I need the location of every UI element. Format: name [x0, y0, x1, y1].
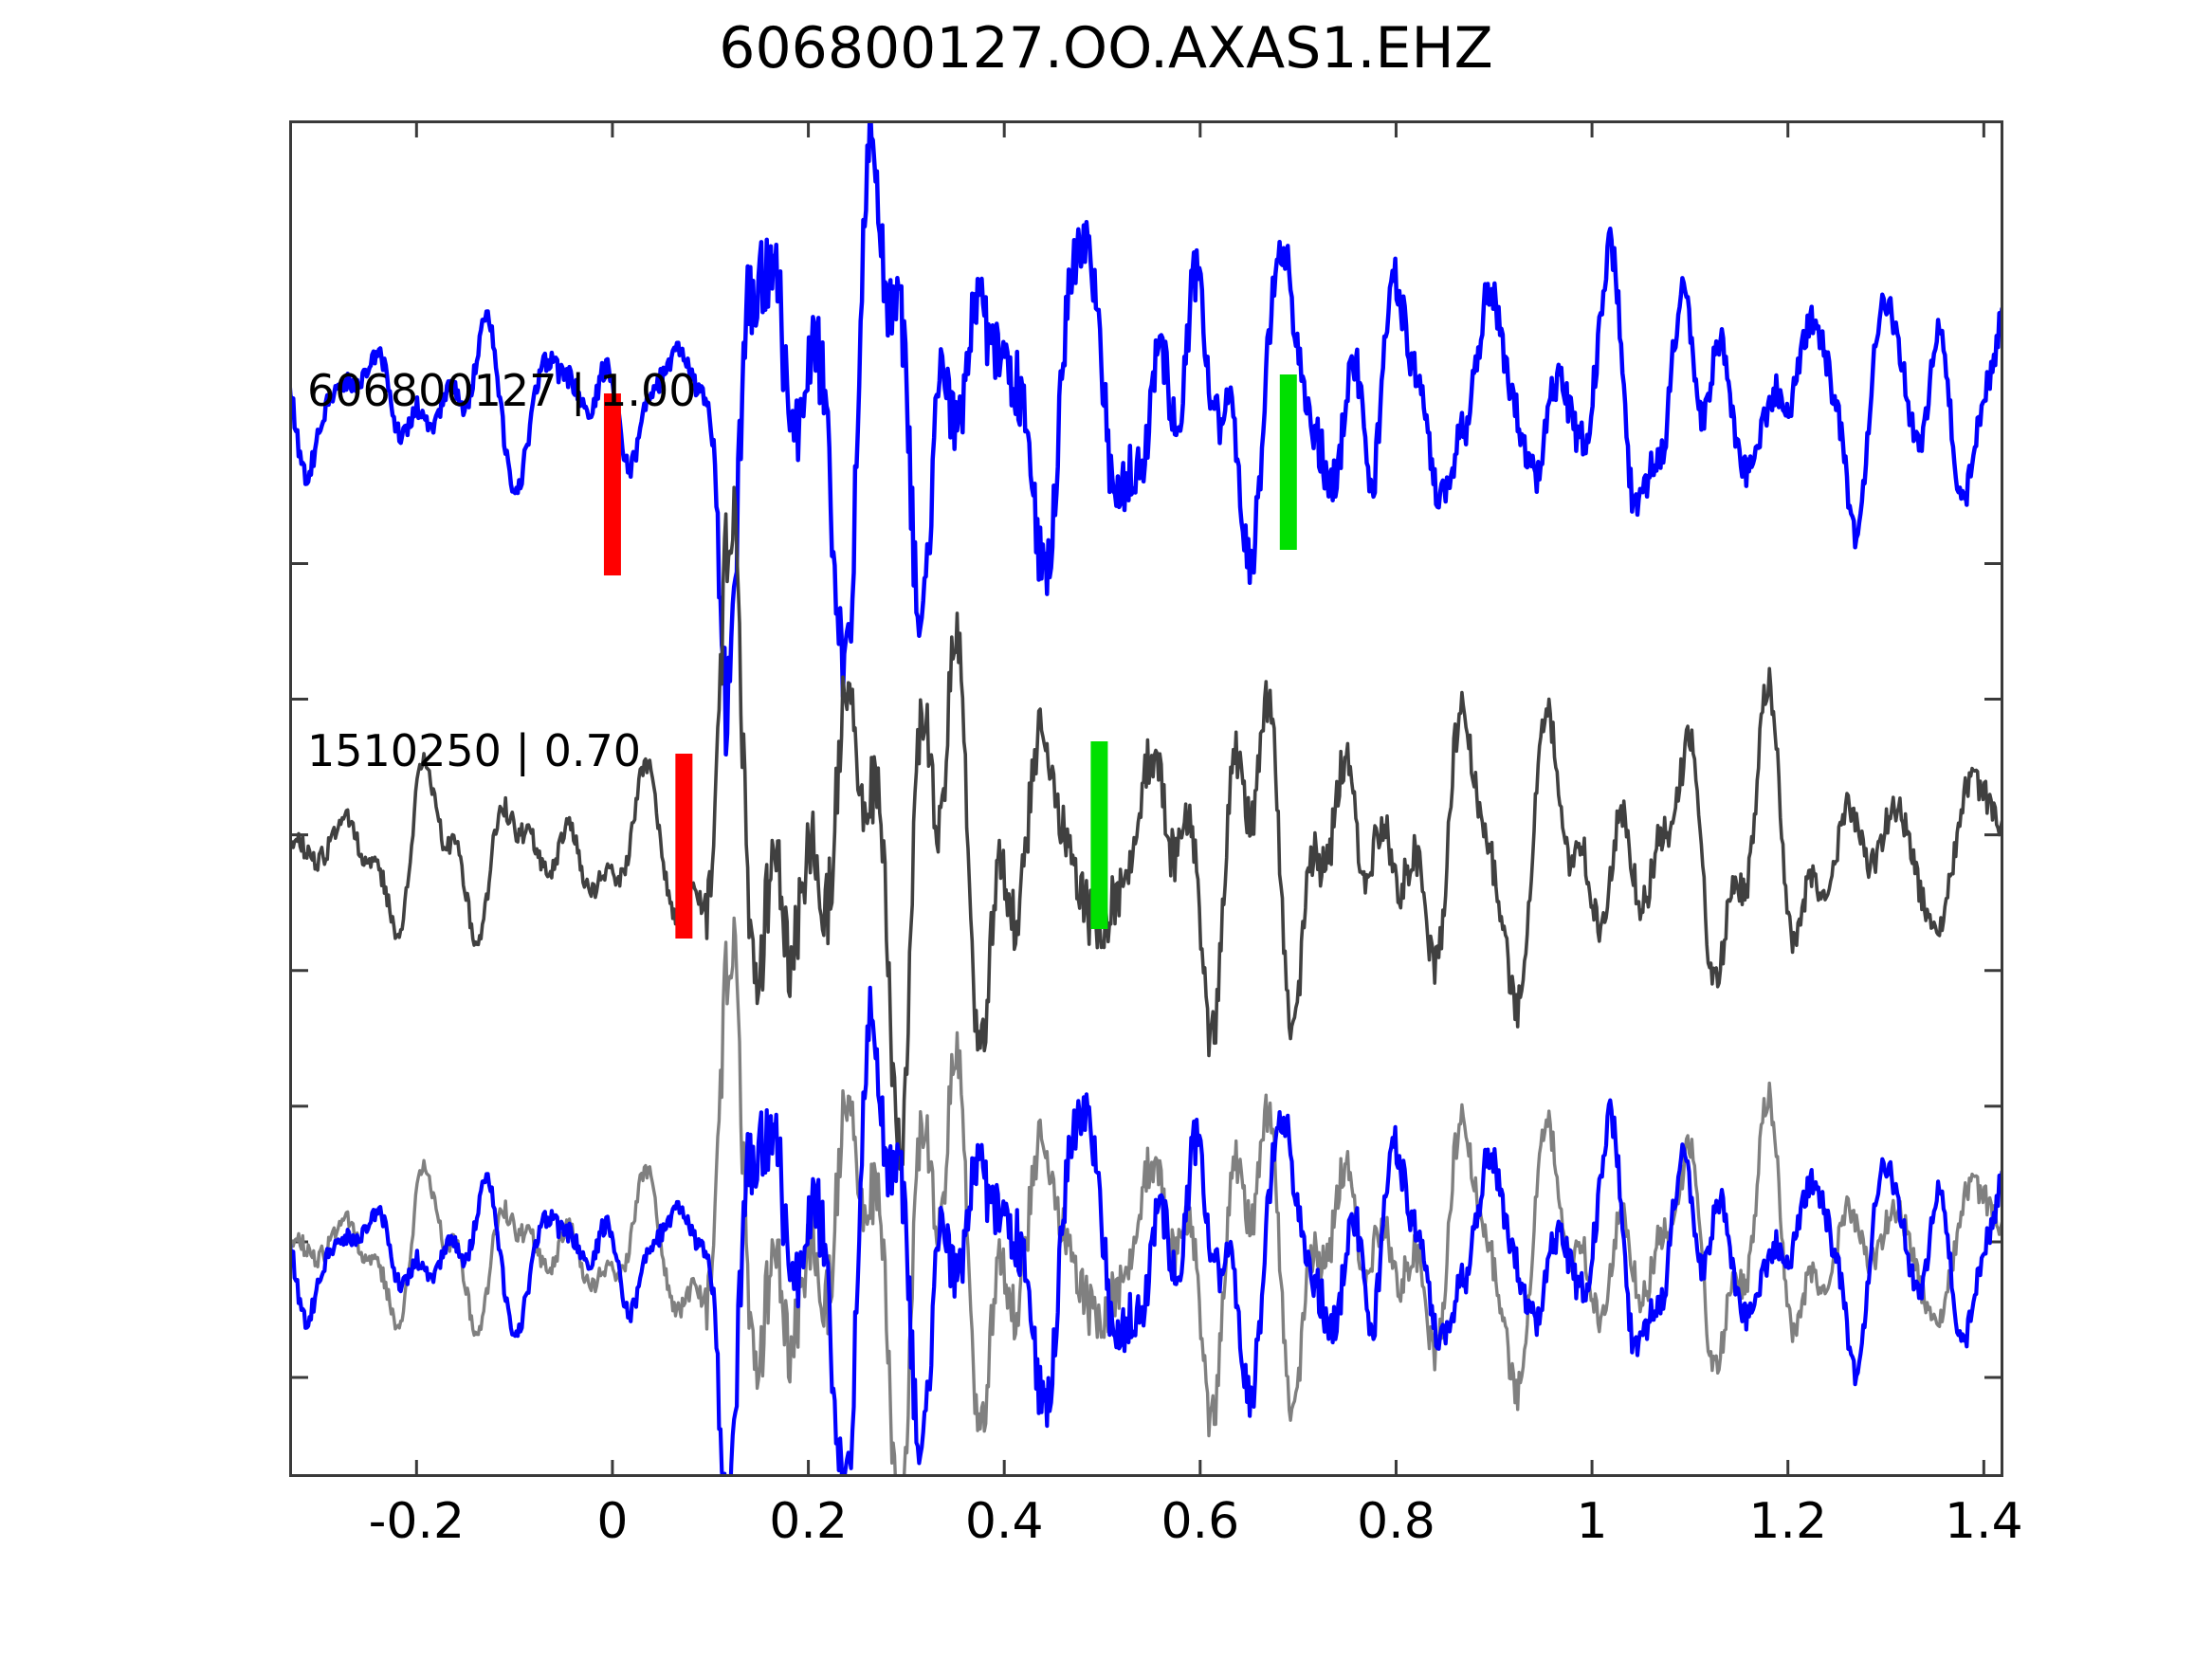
pick-marker-red [604, 393, 621, 575]
plot-area [289, 120, 2003, 1477]
x-tick-label: 1 [1577, 1493, 1608, 1550]
waveform-trace [289, 988, 2003, 1477]
page-title: 606800127.OO.AXAS1.EHZ [0, 15, 2212, 82]
seismogram-figure: 606800127.OO.AXAS1.EHZ 606800127 | 1.00 … [0, 0, 2212, 1659]
waveform-trace [289, 120, 2003, 755]
x-tick-label: 0.6 [1161, 1493, 1239, 1550]
x-tick-label: 1.4 [1945, 1493, 2023, 1550]
waveform-trace [289, 919, 2003, 1478]
x-tick-label: 0.2 [769, 1493, 848, 1550]
x-tick-label: 0.4 [965, 1493, 1044, 1550]
trace-label-606800127: 606800127 | 1.00 [307, 365, 697, 416]
x-tick-label: -0.2 [369, 1493, 465, 1550]
waveform-trace [289, 487, 2003, 1169]
waveform-canvas [289, 120, 2003, 1477]
pick-marker-green [1280, 374, 1297, 550]
pick-marker-red [675, 754, 692, 939]
pick-marker-green [1090, 741, 1107, 929]
x-tick-label: 0.8 [1357, 1493, 1435, 1550]
x-tick-label: 1.2 [1748, 1493, 1827, 1550]
trace-label-1510250: 1510250 | 0.70 [307, 725, 641, 776]
x-tick-label: 0 [596, 1493, 628, 1550]
